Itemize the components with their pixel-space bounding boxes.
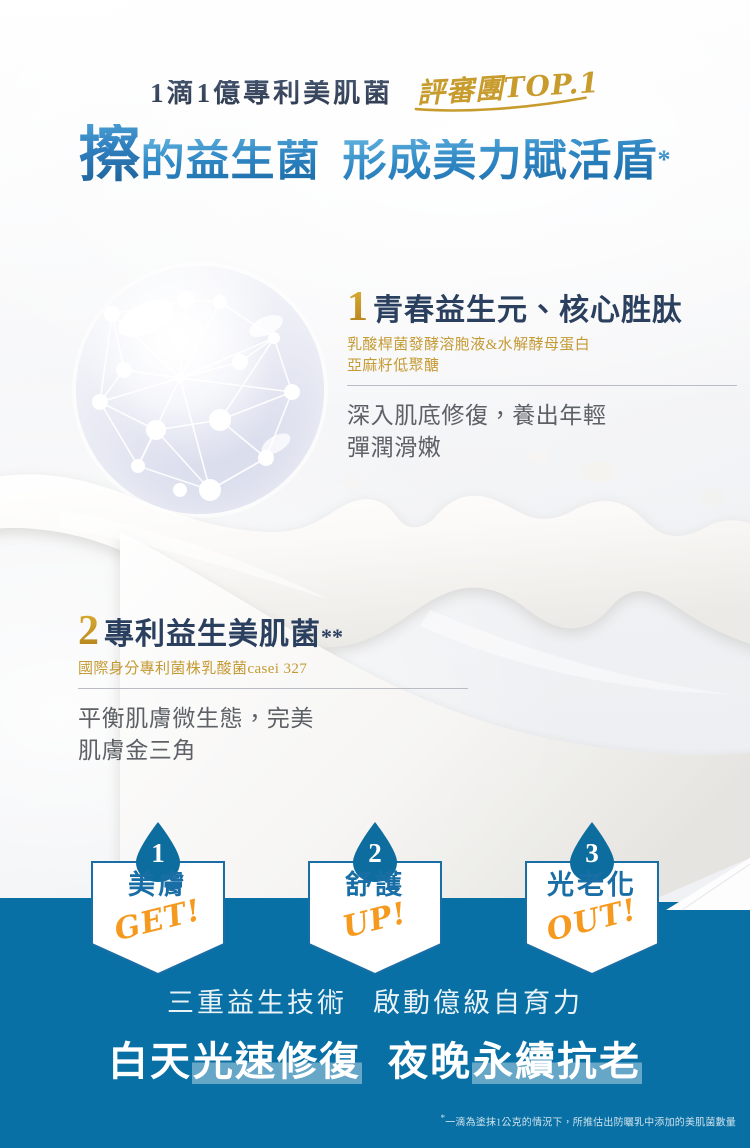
badge-1-number: 1 (132, 840, 184, 867)
feature-1-title-text: 青春益生元、核心胜肽 (373, 294, 683, 327)
feature-2-divider (78, 688, 468, 689)
footer-line-1-a: 三重益生技術 (167, 988, 347, 1018)
footer-line-2-b-plain: 夜晚 (388, 1039, 472, 1084)
footer-line-2-a-highlight: 光速修復 (192, 1039, 362, 1084)
feature-1-heading: 1 青春益生元、核心胜肽 (347, 288, 737, 327)
feature-1-subtitle-line-1: 乳酸桿菌發酵溶胞液&水解酵母蛋白 (347, 335, 737, 356)
feature-2-heading: 2 專利益生美肌菌** (78, 612, 468, 651)
feature-2-title: 專利益生美肌菌** (104, 620, 343, 651)
feature-2-number: 2 (78, 612, 99, 651)
feature-1-number: 1 (347, 288, 368, 327)
feature-1-body-line-2: 彈潤滑嫩 (347, 432, 737, 464)
eyebrow-text: 1滴1億專利美肌菌 (150, 80, 393, 107)
headline-rest-a: 的益生菌 (141, 139, 321, 183)
feature-2-body: 平衡肌膚微生態，完美 肌膚金三角 (78, 703, 468, 766)
footer-line-2-b-highlight: 永續抗老 (472, 1039, 642, 1084)
footer-copy: 三重益生技術啟動億級自育力 白天光速修復夜晚永續抗老 (0, 990, 750, 1085)
feature-2-title-mark: ** (321, 624, 343, 649)
infographic-page: 1滴1億專利美肌菌 評審團TOP.1 擦的益生菌形成美力賦活盾* (0, 0, 750, 1148)
benefit-badges: 1 美膚 GET! 2 舒護 UP! (0, 820, 750, 980)
feature-2-subtitle-line-1: 國際身分專利菌株乳酸菌casei 327 (78, 659, 468, 680)
footer-line-2: 白天光速修復夜晚永續抗老 (0, 1039, 750, 1085)
headline-big-char: 擦 (78, 124, 140, 186)
feature-2-body-line-1: 平衡肌膚微生態，完美 (78, 703, 468, 735)
headline-asterisk: * (658, 147, 672, 173)
footnote-text: 一滴為塗抹1公克的情況下，所推估出防曬乳中添加的美肌菌數量 (445, 1117, 736, 1128)
award-badge-text: 評審團TOP.1 (416, 66, 601, 110)
feature-1-subtitle-line-2: 亞麻籽低聚醣 (347, 356, 737, 377)
feature-1-title: 青春益生元、核心胜肽 (373, 296, 683, 327)
header: 1滴1億專利美肌菌 評審團TOP.1 擦的益生菌形成美力賦活盾* (0, 0, 750, 186)
headline-rest-b: 形成美力賦活盾 (343, 139, 658, 183)
footer-line-1: 三重益生技術啟動億級自育力 (0, 990, 750, 1017)
feature-1-divider (347, 385, 737, 386)
feature-1-subtitle: 乳酸桿菌發酵溶胞液&水解酵母蛋白 亞麻籽低聚醣 (347, 335, 737, 378)
headline-main: 擦的益生菌形成美力賦活盾* (0, 124, 750, 186)
footer-line-2-a-plain: 白天 (108, 1039, 192, 1084)
feature-block-1: 1 青春益生元、核心胜肽 乳酸桿菌發酵溶胞液&水解酵母蛋白 亞麻籽低聚醣 深入肌… (347, 288, 737, 464)
badge-3-number: 3 (566, 840, 618, 867)
feature-2-title-text: 專利益生美肌菌 (104, 618, 321, 651)
headline-eyebrow: 1滴1億專利美肌菌 評審團TOP.1 (0, 78, 750, 108)
feature-1-body-line-1: 深入肌底修復，養出年輕 (347, 400, 737, 432)
footnote: *一滴為塗抹1公克的情況下，所推估出防曬乳中添加的美肌菌數量 (440, 1114, 736, 1128)
feature-block-2: 2 專利益生美肌菌** 國際身分專利菌株乳酸菌casei 327 平衡肌膚微生態… (78, 612, 468, 766)
feature-2-subtitle: 國際身分專利菌株乳酸菌casei 327 (78, 659, 468, 680)
feature-1-body: 深入肌底修復，養出年輕 彈潤滑嫩 (347, 400, 737, 463)
feature-2-body-line-2: 肌膚金三角 (78, 735, 468, 767)
award-badge-top1: 評審團TOP.1 (416, 69, 600, 108)
molecular-network-sphere-icon (60, 252, 340, 532)
badge-2-number: 2 (349, 840, 401, 867)
footer-line-1-b: 啟動億級自育力 (373, 988, 583, 1018)
